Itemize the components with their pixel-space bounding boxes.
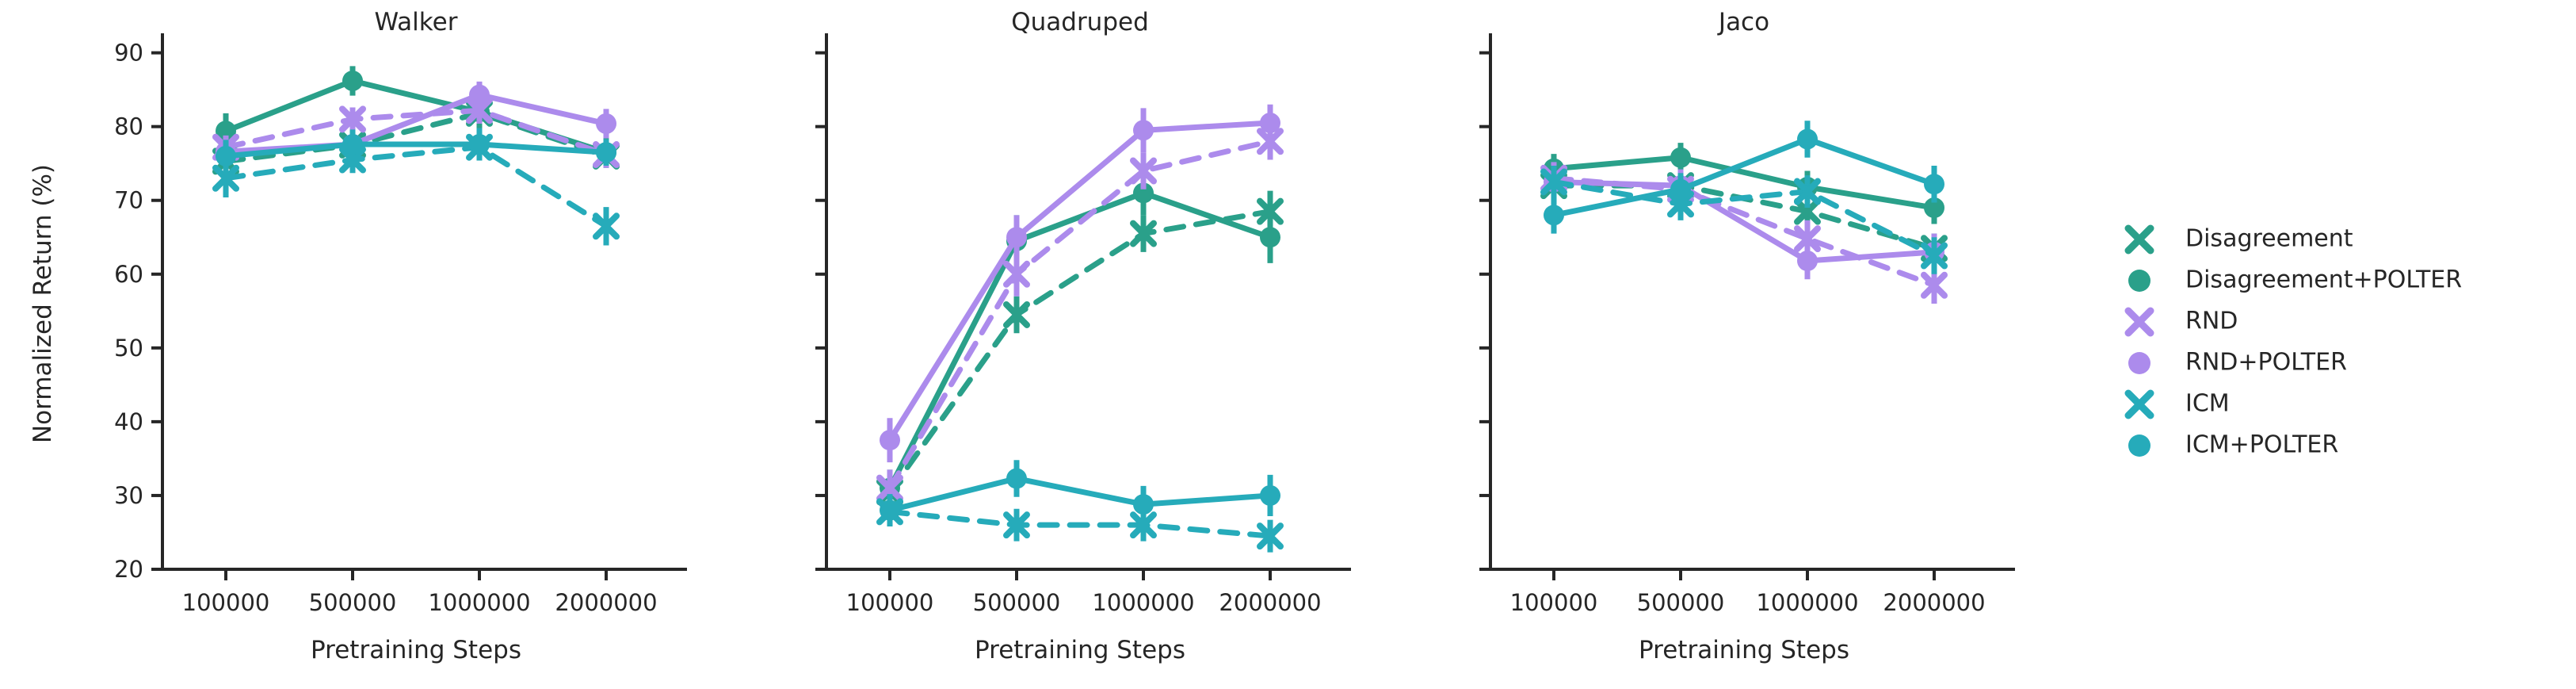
data-point-circle (469, 134, 490, 155)
legend-marker-circle (2128, 352, 2150, 374)
legend-label: Disagreement+POLTER (2185, 266, 2462, 294)
y-tick-label: 80 (114, 113, 143, 140)
series-line (890, 123, 1270, 440)
series-line (890, 479, 1270, 511)
legend-item-disagreement[interactable]: Disagreement (2128, 225, 2353, 253)
legend-item-disagreement-plus-polter[interactable]: Disagreement+POLTER (2128, 266, 2462, 294)
legend-marker-x (2128, 228, 2150, 251)
x-tick-label: 100000 (182, 589, 270, 616)
data-point-circle (1544, 205, 1564, 225)
y-tick-label: 40 (114, 408, 143, 435)
y-axis-label: Normalized Return (%) (29, 164, 57, 443)
data-point-circle (1260, 485, 1280, 506)
data-point-circle (1797, 251, 1818, 271)
x-axis-label: Pretraining Steps (975, 636, 1185, 664)
data-point-circle (880, 430, 900, 450)
legend-label: RND+POLTER (2185, 349, 2347, 377)
x-tick-label: 500000 (973, 589, 1061, 616)
data-point-circle (1670, 147, 1691, 168)
data-point-circle (1006, 469, 1027, 489)
series-line (890, 511, 1270, 536)
legend-label: ICM+POLTER (2185, 431, 2338, 459)
legend-label: RND (2185, 308, 2238, 335)
panel-title-quadruped: Quadruped (1011, 8, 1149, 36)
x-tick-label: 1000000 (1756, 589, 1858, 616)
series-line (890, 193, 1270, 488)
x-tick-label: 100000 (846, 589, 934, 616)
data-point-circle (596, 113, 616, 134)
legend-label: Disagreement (2185, 225, 2353, 253)
x-tick-label: 1000000 (1092, 589, 1194, 616)
legend-marker-circle (2128, 434, 2150, 457)
y-tick-label: 20 (114, 556, 143, 583)
x-tick-label: 500000 (1637, 589, 1725, 616)
multi-panel-line-chart: Walker2030405060708090100000500000100000… (0, 0, 2576, 689)
data-point-circle (880, 500, 900, 521)
panel-jaco: Jaco10000050000010000002000000Pretrainin… (1479, 8, 2015, 664)
legend-item-rnd[interactable]: RND (2128, 308, 2238, 335)
legend: DisagreementDisagreement+POLTERRNDRND+PO… (2128, 225, 2462, 459)
series-line (1554, 182, 1934, 255)
y-tick-label: 60 (114, 261, 143, 288)
data-point-circle (596, 142, 616, 163)
x-axis-label: Pretraining Steps (1639, 636, 1849, 664)
legend-marker-x (2128, 393, 2150, 415)
x-axis-label: Pretraining Steps (311, 636, 521, 664)
x-tick-label: 500000 (309, 589, 397, 616)
y-tick-label: 90 (114, 40, 143, 67)
data-point-circle (342, 134, 363, 155)
data-point-circle (216, 146, 236, 167)
x-tick-label: 2000000 (1883, 589, 1985, 616)
y-tick-label: 30 (114, 482, 143, 509)
x-tick-label: 100000 (1510, 589, 1598, 616)
legend-item-icm[interactable]: ICM (2128, 390, 2230, 418)
data-point-circle (1670, 179, 1691, 200)
series-line (1554, 139, 1934, 215)
legend-item-rnd-plus-polter[interactable]: RND+POLTER (2128, 349, 2347, 377)
data-point-circle (1133, 120, 1154, 140)
series-line (226, 147, 606, 227)
y-tick-label: 50 (114, 335, 143, 362)
data-point-circle (1260, 113, 1280, 133)
panel-title-walker: Walker (375, 8, 458, 36)
panel-quadruped: Quadruped10000050000010000002000000Pretr… (815, 8, 1351, 664)
data-point-circle (469, 85, 490, 105)
legend-label: ICM (2185, 390, 2230, 418)
data-point-circle (1924, 174, 1944, 194)
series-line (890, 141, 1270, 488)
panel-walker: Walker2030405060708090100000500000100000… (114, 8, 687, 664)
x-tick-label: 1000000 (428, 589, 530, 616)
data-point-circle (1133, 494, 1154, 515)
x-tick-label: 2000000 (555, 589, 657, 616)
y-tick-label: 70 (114, 187, 143, 214)
figure-container: Walker2030405060708090100000500000100000… (0, 0, 2576, 689)
data-point-circle (1797, 128, 1818, 149)
legend-marker-circle (2128, 270, 2150, 292)
x-tick-label: 2000000 (1219, 589, 1321, 616)
data-point-circle (1006, 227, 1027, 247)
panel-title-jaco: Jaco (1717, 8, 1769, 36)
legend-item-icm-plus-polter[interactable]: ICM+POLTER (2128, 431, 2338, 459)
data-point-circle (1260, 227, 1280, 247)
data-point-circle (342, 71, 363, 91)
legend-marker-x (2128, 311, 2150, 333)
